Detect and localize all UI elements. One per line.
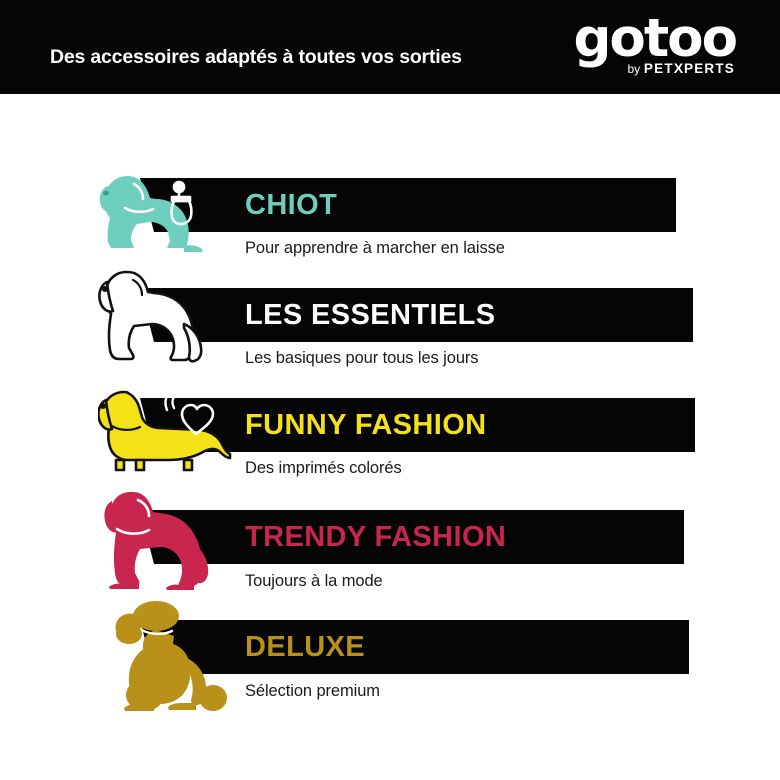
logo-brand-right: PERTS [684, 61, 735, 76]
category-list: CHIOT Pour apprendre à marcher en laisse… [0, 94, 780, 780]
category-row-funny-fashion[interactable]: FUNNY FASHION Des imprimés colorés [0, 314, 780, 424]
row-subtitle: Sélection premium [245, 682, 380, 701]
header-bar: Des accessoires adaptés à toutes vos sor… [0, 0, 780, 94]
brand-logo: gotoo by PETXPERTS [566, 16, 736, 80]
logo-by-label: by [627, 62, 640, 76]
logo-brand-left: PET [644, 61, 674, 76]
category-row-les-essentiels[interactable]: LES ESSENTIELS Les basiques pour tous le… [0, 204, 780, 314]
row-title: DELUXE [245, 620, 365, 674]
category-row-deluxe[interactable]: DELUXE Sélection premium [0, 536, 780, 656]
poodle-silhouette [112, 600, 234, 714]
category-row-trendy-fashion[interactable]: TRENDY FASHION Toujours à la mode [0, 424, 780, 536]
category-row-chiot[interactable]: CHIOT Pour apprendre à marcher en laisse [0, 94, 780, 204]
logo-wordmark: gotoo [573, 12, 736, 65]
bone-x-icon: X [674, 62, 685, 76]
page-title: Des accessoires adaptés à toutes vos sor… [50, 46, 462, 69]
logo-tagline: by PETXPERTS [627, 62, 735, 76]
